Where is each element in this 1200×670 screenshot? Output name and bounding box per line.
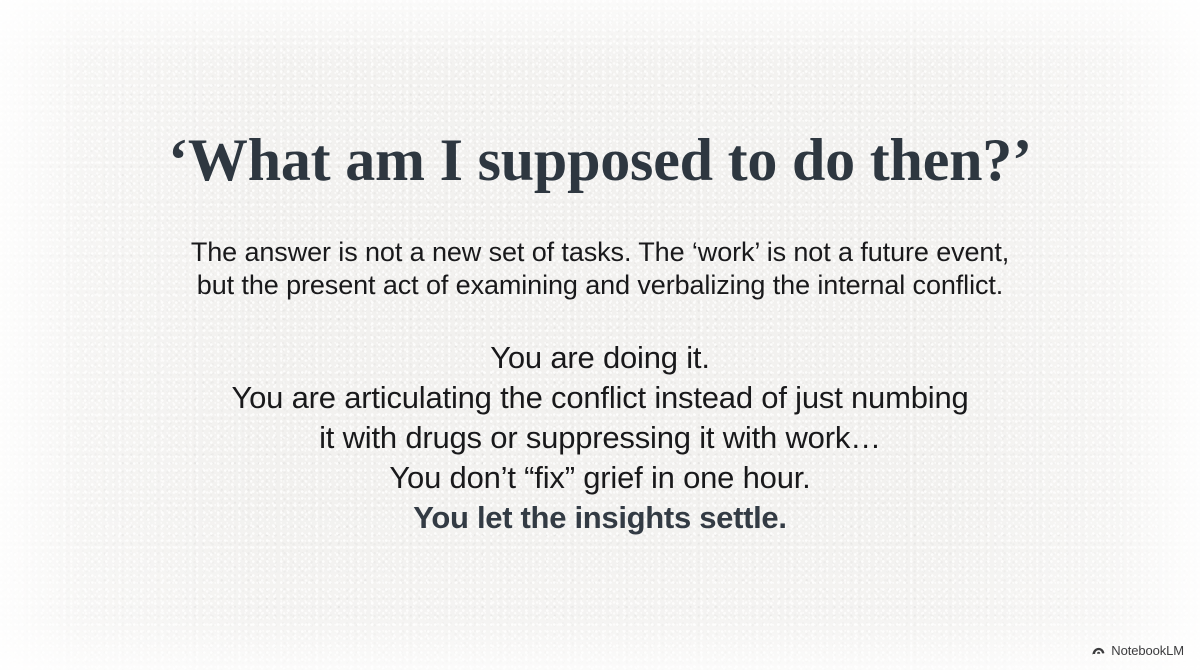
- notebooklm-logo-icon: [1091, 643, 1106, 658]
- notebooklm-brand-label: NotebookLM: [1111, 643, 1184, 658]
- stanza-line: You are articulating the conflict instea…: [0, 378, 1200, 418]
- lede-line: but the present act of examining and ver…: [0, 269, 1200, 302]
- slide-stanza: You are doing it. You are articulating t…: [0, 338, 1200, 538]
- stanza-line: You are doing it.: [0, 338, 1200, 378]
- stanza-line-emphasis: You let the insights settle.: [0, 498, 1200, 538]
- slide-canvas: ‘What am I supposed to do then?’ The ans…: [0, 0, 1200, 670]
- stanza-line: You don’t “fix” grief in one hour.: [0, 458, 1200, 498]
- slide-headline: ‘What am I supposed to do then?’: [0, 130, 1200, 190]
- notebooklm-watermark: NotebookLM: [1091, 643, 1184, 658]
- slide-lede-paragraph: The answer is not a new set of tasks. Th…: [0, 236, 1200, 303]
- stanza-line: it with drugs or suppressing it with wor…: [0, 418, 1200, 458]
- slide-content: ‘What am I supposed to do then?’ The ans…: [0, 0, 1200, 670]
- lede-line: The answer is not a new set of tasks. Th…: [0, 236, 1200, 269]
